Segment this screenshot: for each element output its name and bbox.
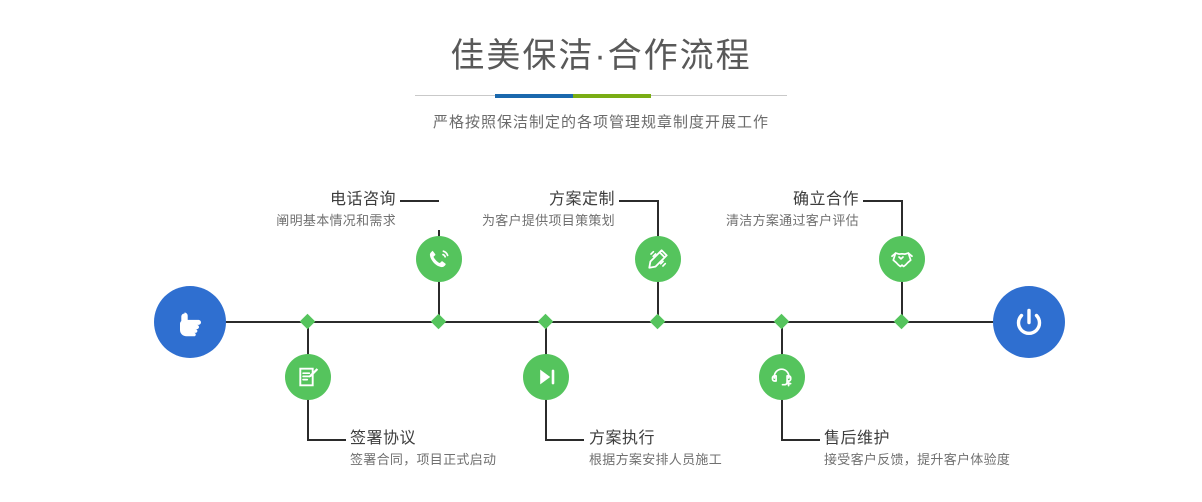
timeline-label-6: 售后维护 接受客户反馈，提升客户体验度 bbox=[824, 428, 1010, 470]
process-timeline: 电话咨询 阐明基本情况和需求 签署协议 签署合同，项目正式启动 bbox=[0, 0, 1202, 502]
step-title: 签署协议 bbox=[350, 428, 496, 450]
timeline-arm-6 bbox=[781, 439, 820, 441]
step-desc: 阐明基本情况和需求 bbox=[150, 211, 396, 231]
pencil-ruler-icon bbox=[644, 245, 672, 273]
timeline-end-endpoint bbox=[993, 286, 1065, 358]
timeline-node-3 bbox=[635, 236, 681, 282]
step-title: 电话咨询 bbox=[150, 189, 396, 211]
timeline-label-1: 电话咨询 阐明基本情况和需求 bbox=[150, 189, 396, 231]
phone-call-icon bbox=[425, 245, 453, 273]
timeline-marker-1 bbox=[431, 314, 447, 330]
timeline-label-3: 方案定制 为客户提供项目策策划 bbox=[380, 189, 615, 231]
step-title: 方案定制 bbox=[380, 189, 615, 211]
step-title: 售后维护 bbox=[824, 428, 1010, 450]
timeline-marker-6 bbox=[774, 314, 790, 330]
timeline-arm-4 bbox=[545, 439, 584, 441]
step-title: 方案执行 bbox=[589, 428, 722, 450]
headset-support-icon bbox=[768, 363, 796, 391]
timeline-start-endpoint bbox=[154, 286, 226, 358]
pointing-hand-icon bbox=[170, 302, 210, 342]
handshake-icon bbox=[888, 245, 916, 273]
play-execute-icon bbox=[532, 363, 560, 391]
step-desc: 为客户提供项目策策划 bbox=[380, 211, 615, 231]
timeline-node-2 bbox=[285, 354, 331, 400]
timeline-node-1 bbox=[416, 236, 462, 282]
step-desc: 根据方案安排人员施工 bbox=[589, 450, 722, 470]
timeline-marker-2 bbox=[300, 314, 316, 330]
power-icon bbox=[1009, 302, 1049, 342]
timeline-node-6 bbox=[759, 354, 805, 400]
timeline-label-5: 确立合作 清洁方案通过客户评估 bbox=[620, 189, 859, 231]
timeline-label-2: 签署协议 签署合同，项目正式启动 bbox=[350, 428, 496, 470]
step-desc: 签署合同，项目正式启动 bbox=[350, 450, 496, 470]
step-desc: 接受客户反馈，提升客户体验度 bbox=[824, 450, 1010, 470]
document-sign-icon bbox=[294, 363, 322, 391]
timeline-label-4: 方案执行 根据方案安排人员施工 bbox=[589, 428, 722, 470]
timeline-marker-4 bbox=[538, 314, 554, 330]
timeline-marker-3 bbox=[650, 314, 666, 330]
timeline-arm-5 bbox=[863, 200, 902, 202]
timeline-node-5 bbox=[879, 236, 925, 282]
timeline-marker-5 bbox=[894, 314, 910, 330]
timeline-arm-2 bbox=[307, 439, 346, 441]
step-desc: 清洁方案通过客户评估 bbox=[620, 211, 859, 231]
timeline-node-4 bbox=[523, 354, 569, 400]
step-title: 确立合作 bbox=[620, 189, 859, 211]
